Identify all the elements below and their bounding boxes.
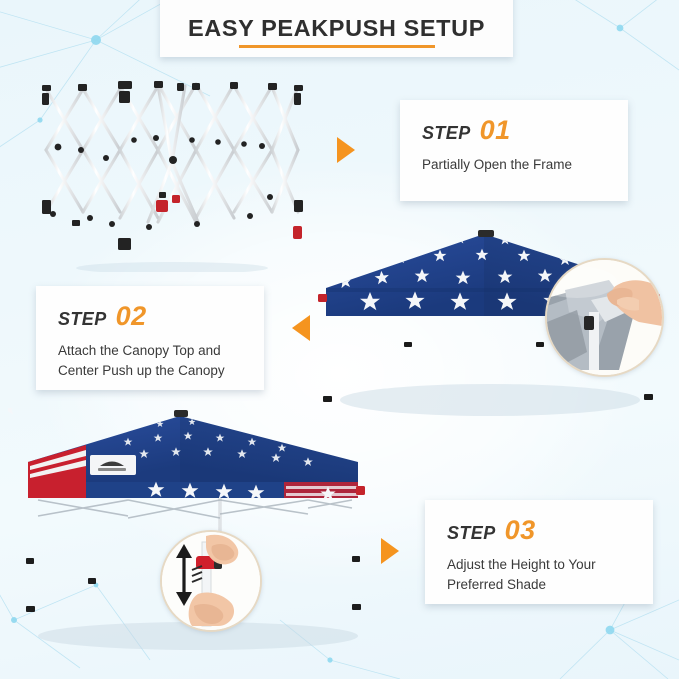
brand-label-patch [90,455,136,475]
step-02-description: Attach the Canopy Top and Center Push up… [58,341,244,380]
step-02-description-line1: Attach the Canopy Top and [58,341,244,361]
step-card-02: STEP 02 Attach the Canopy Top and Center… [36,286,264,390]
title-underline [239,45,435,48]
step-02-description-line2: Center Push up the Canopy [58,361,244,381]
step-02-label: STEP [58,310,107,328]
arrow-left-icon-step2 [292,315,310,341]
step-03-label: STEP [447,524,496,542]
step-01-number: 01 [480,118,511,142]
page-title-card: EASY PEAKPUSH SETUP [160,0,513,57]
page-title: EASY PEAKPUSH SETUP [188,17,485,41]
step-03-description: Adjust the Height to Your Preferred Shad… [447,555,633,594]
step-03-heading: STEP 03 [447,518,633,542]
step-02-number: 02 [116,304,147,328]
hand-attaching-canopy-icon [545,258,664,377]
hand-adjusting-leg-height-icon [160,530,262,632]
step-03-number: 03 [505,518,536,542]
step-03-description-line1: Adjust the Height to Your [447,555,633,575]
step-01-label: STEP [422,124,471,142]
infographic-stage: EASY PEAKPUSH SETUP [0,0,679,679]
step-03-description-line2: Preferred Shade [447,575,633,595]
step-01-description: Partially Open the Frame [422,155,608,175]
step-02-heading: STEP 02 [58,304,244,328]
arrow-right-icon-step1 [337,137,355,163]
illustration-folded-frame [22,72,322,272]
step-card-03: STEP 03 Adjust the Height to Your Prefer… [425,500,653,604]
step-01-heading: STEP 01 [422,118,608,142]
step-card-01: STEP 01 Partially Open the Frame [400,100,628,201]
arrow-right-icon-step3 [381,538,399,564]
